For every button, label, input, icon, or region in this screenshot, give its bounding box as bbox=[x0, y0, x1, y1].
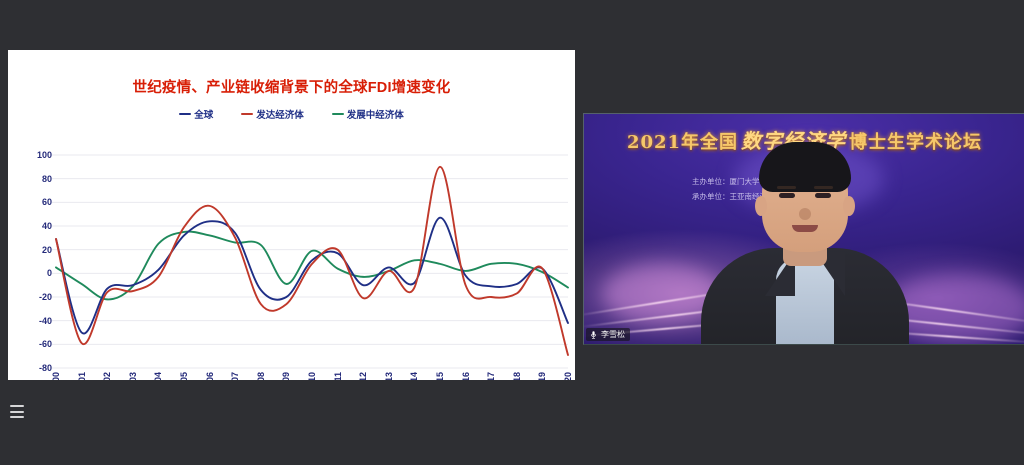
x-axis-tick: 2005 bbox=[179, 372, 189, 380]
x-axis-tick: 2003 bbox=[128, 372, 138, 380]
x-axis-tick: 2015 bbox=[435, 372, 445, 380]
x-axis-tick: 2000 bbox=[51, 372, 61, 380]
x-axis-tick: 2011 bbox=[333, 372, 343, 380]
meeting-window: 世纪疫情、产业链收缩背景下的全球FDI增速变化 100806040200-20-… bbox=[0, 0, 1024, 465]
x-axis-tick: 2004 bbox=[153, 372, 163, 380]
x-axis-tick: 2002 bbox=[102, 372, 112, 380]
x-axis-tick: 2014 bbox=[409, 372, 419, 380]
x-axis-tick: 2019 bbox=[537, 372, 547, 380]
banner-suffix: 博士生学术论坛 bbox=[849, 132, 982, 153]
participant-name-badge: 李雪松 bbox=[586, 328, 630, 341]
banner-prefix: 2021年全国 bbox=[627, 132, 738, 153]
x-axis-tick: 2016 bbox=[461, 372, 471, 380]
shared-slide[interactable]: 世纪疫情、产业链收缩背景下的全球FDI增速变化 100806040200-20-… bbox=[8, 50, 575, 380]
x-axis-tick: 2018 bbox=[512, 372, 522, 380]
participant-video-tile[interactable]: 2021年全国数字经济学博士生学术论坛 主办单位：厦门大学 承办单位：王亚南经济… bbox=[583, 113, 1024, 345]
x-axis-tick: 2006 bbox=[205, 372, 215, 380]
microphone-icon bbox=[589, 330, 598, 340]
x-axis-tick: 2009 bbox=[281, 372, 291, 380]
list-icon[interactable] bbox=[10, 405, 24, 418]
x-axis-tick: 2007 bbox=[230, 372, 240, 380]
x-axis-tick: 2020 bbox=[563, 372, 573, 380]
x-axis-tick: 2001 bbox=[77, 372, 87, 380]
x-axis-tick: 2013 bbox=[384, 372, 394, 380]
x-axis-tick: 2008 bbox=[256, 372, 266, 380]
x-axis-tick: 2017 bbox=[486, 372, 496, 380]
participant-name: 李雪松 bbox=[601, 329, 625, 340]
x-axis-tick: 2010 bbox=[307, 372, 317, 380]
speaker-figure bbox=[690, 154, 920, 344]
x-axis-labels: 2000200120022003200420052006200720082009… bbox=[8, 50, 575, 380]
x-axis-tick: 2012 bbox=[358, 372, 368, 380]
